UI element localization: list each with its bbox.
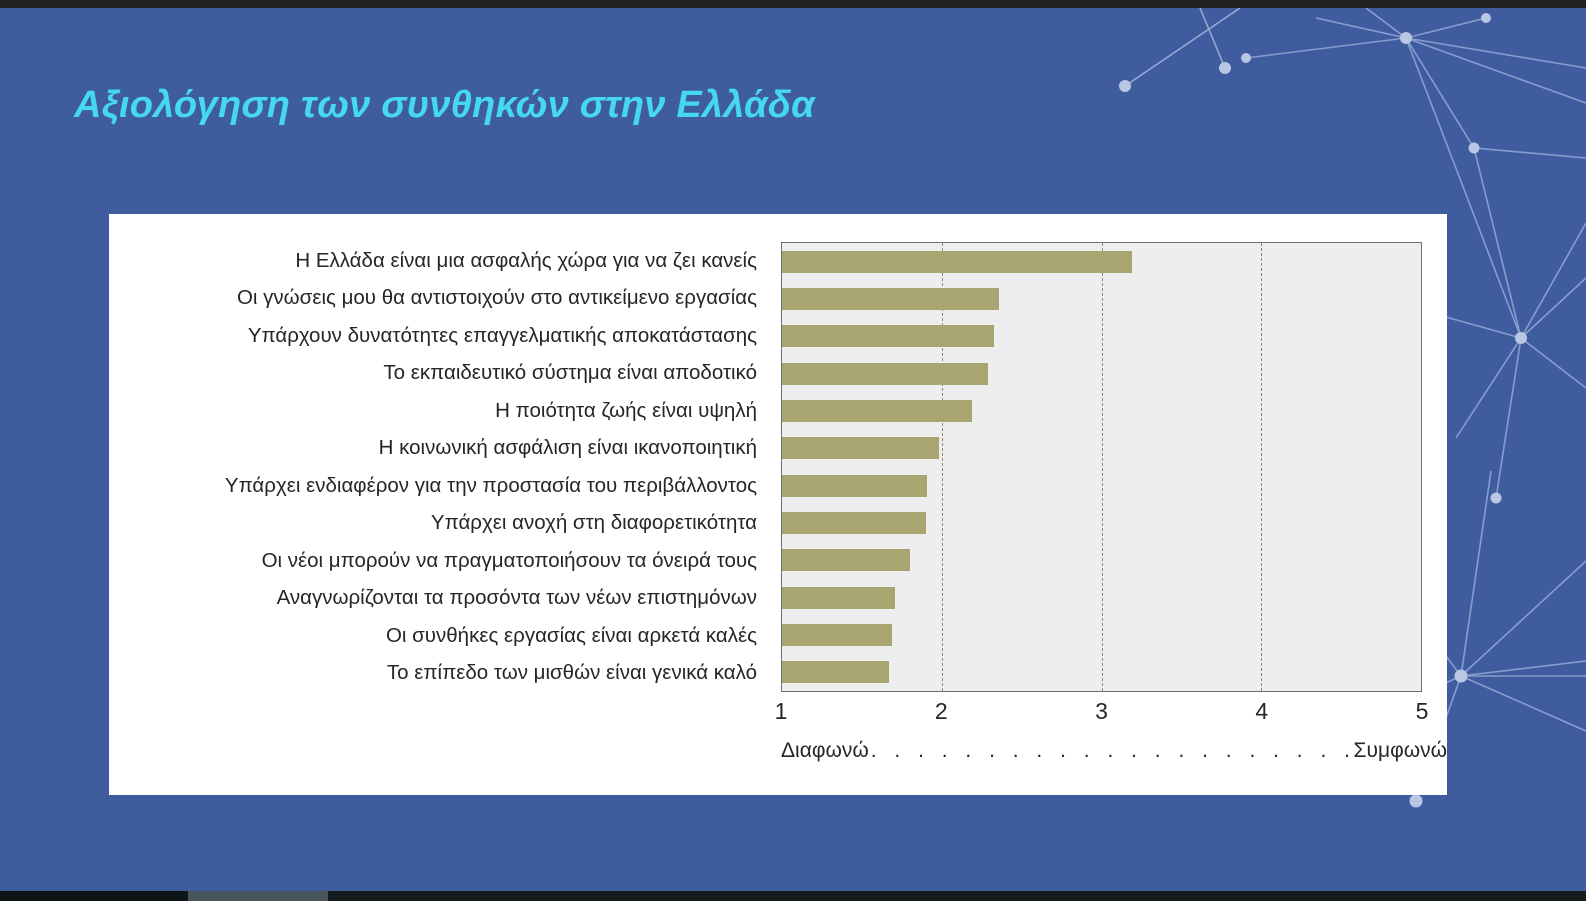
- bar-row: [782, 392, 1421, 429]
- category-label: Οι συνθήκες εργασίας είναι αρκετά καλές: [119, 617, 771, 655]
- bar-series: [782, 243, 1421, 691]
- bar: [782, 624, 892, 646]
- scale-high-label: Συμφωνώ: [1354, 739, 1447, 763]
- bar: [782, 400, 972, 422]
- scale-low-label: Διαφωνώ: [781, 739, 869, 763]
- axis-tick-label: 1: [775, 698, 788, 725]
- taskbar-segment-right: [328, 891, 1586, 901]
- bar-row: [782, 616, 1421, 653]
- category-label: Αναγνωρίζονται τα προσόντα των νέων επισ…: [119, 580, 771, 618]
- category-axis-labels: Η Ελλάδα είναι μια ασφαλής χώρα για να ζ…: [119, 242, 771, 692]
- bar: [782, 512, 926, 534]
- window-top-bar: [0, 0, 1586, 8]
- bar: [782, 437, 939, 459]
- bar-row: [782, 654, 1421, 691]
- category-label: Υπάρχει ενδιαφέρον για την προστασία του…: [119, 467, 771, 505]
- category-label: Οι νέοι μπορούν να πραγματοποιήσουν τα ό…: [119, 542, 771, 580]
- axis-tick-label: 4: [1255, 698, 1268, 725]
- axis-tick-label: 5: [1416, 698, 1429, 725]
- category-label: Η Ελλάδα είναι μια ασφαλής χώρα για να ζ…: [119, 242, 771, 280]
- network-decoration-top-center: [1080, 8, 1340, 148]
- category-label: Υπάρχουν δυνατότητες επαγγελματικής αποκ…: [119, 317, 771, 355]
- bar-row: [782, 318, 1421, 355]
- bar-row: [782, 280, 1421, 317]
- bar-row: [782, 243, 1421, 280]
- plot-area: [781, 242, 1422, 692]
- taskbar-segment-active: [188, 891, 328, 901]
- bar: [782, 661, 889, 683]
- bar-row: [782, 430, 1421, 467]
- bar-row: [782, 579, 1421, 616]
- bar: [782, 251, 1132, 273]
- chart-container: Η Ελλάδα είναι μια ασφαλής χώρα για να ζ…: [109, 214, 1447, 795]
- category-label: Η κοινωνική ασφάλιση είναι ικανοποιητική: [119, 430, 771, 468]
- category-label: Το επίπεδο των μισθών είναι γενικά καλό: [119, 655, 771, 693]
- axis-tick-label: 2: [935, 698, 948, 725]
- bar: [782, 475, 927, 497]
- presentation-slide: Αξιολόγηση των συνθηκών στην Ελλάδα Η Ελ…: [0, 0, 1586, 901]
- bar: [782, 325, 994, 347]
- axis-tick-label: 3: [1095, 698, 1108, 725]
- scale-dots: . . . . . . . . . . . . . . . . . . . . …: [871, 739, 1352, 763]
- category-label: Η ποιότητα ζωής είναι υψηλή: [119, 392, 771, 430]
- slide-title: Αξιολόγηση των συνθηκών στην Ελλάδα: [74, 84, 815, 127]
- taskbar-segment-left: [0, 891, 188, 901]
- bar: [782, 363, 988, 385]
- category-label: Οι γνώσεις μου θα αντιστοιχούν στο αντικ…: [119, 280, 771, 318]
- category-label: Το εκπαιδευτικό σύστημα είναι αποδοτικό: [119, 355, 771, 393]
- bar: [782, 587, 895, 609]
- bar-row: [782, 355, 1421, 392]
- category-label: Υπάρχει ανοχή στη διαφορετικότητα: [119, 505, 771, 543]
- bar-row: [782, 542, 1421, 579]
- window-bottom-bar: [0, 891, 1586, 901]
- scale-legend: Διαφωνώ . . . . . . . . . . . . . . . . …: [781, 736, 1447, 766]
- bar-row: [782, 504, 1421, 541]
- value-axis-ticks: 12345: [781, 698, 1422, 732]
- bar: [782, 549, 910, 571]
- bar-row: [782, 467, 1421, 504]
- bar: [782, 288, 999, 310]
